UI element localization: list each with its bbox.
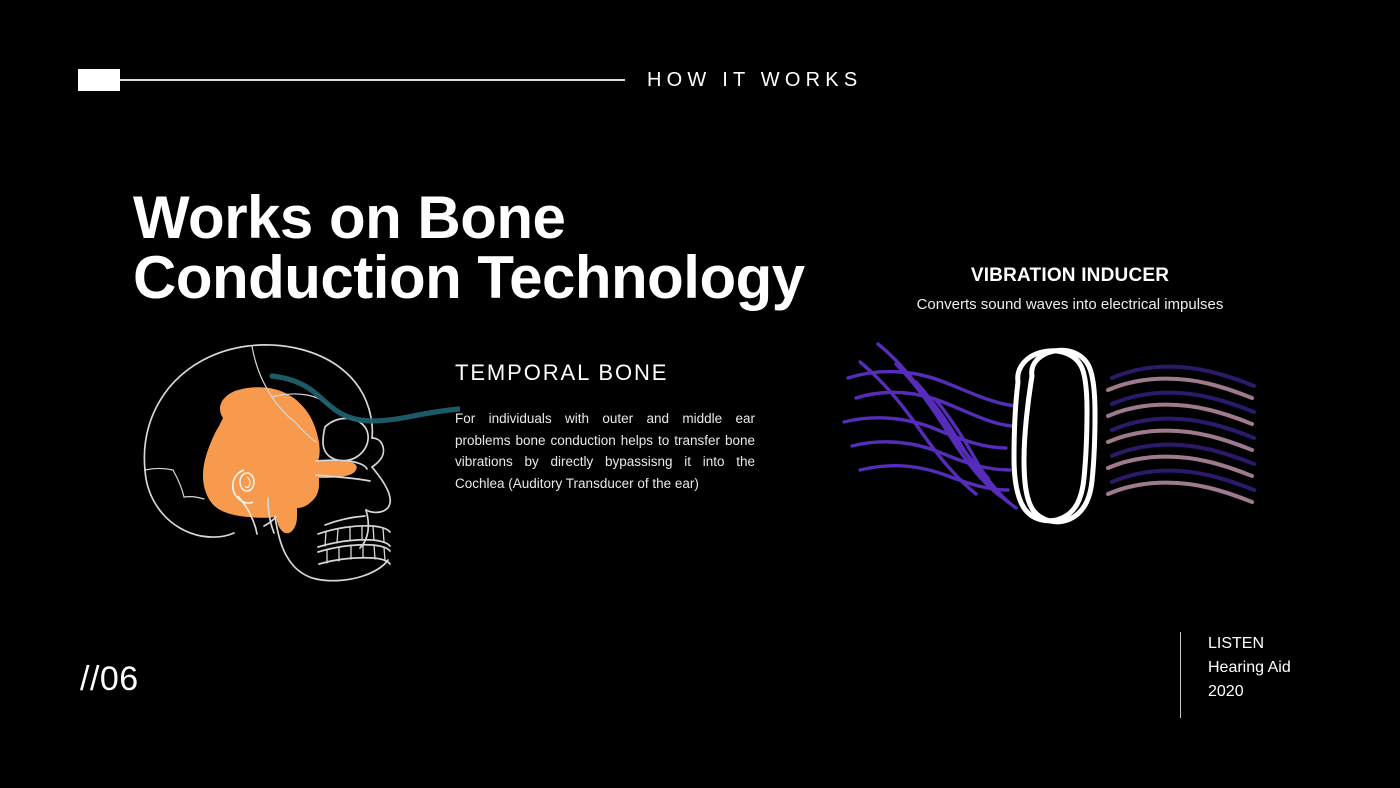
page-title: Works on Bone Conduction Technology (133, 188, 893, 308)
credit-lines: LISTEN Hearing Aid 2020 (1208, 632, 1291, 704)
credit-product: Hearing Aid (1208, 656, 1291, 680)
slide-eyebrow: HOW IT WORKS (78, 60, 878, 100)
vibration-inducer-diagram (840, 330, 1260, 535)
eyebrow-divider-line (120, 79, 625, 81)
temporal-bone-description: For individuals with outer and middle ea… (455, 408, 755, 494)
credit-brand: LISTEN (1208, 632, 1291, 656)
slide-root: HOW IT WORKS Works on Bone Conduction Te… (0, 0, 1400, 788)
credit-block: LISTEN Hearing Aid 2020 (1180, 632, 1291, 718)
vibration-inducer-heading: VIBRATION INDUCER (780, 265, 1360, 287)
credit-year: 2020 (1208, 680, 1291, 704)
vibration-inducer-subheading: Converts sound waves into electrical imp… (780, 296, 1360, 313)
page-number: //06 (80, 660, 139, 699)
page-title-line-2: Conduction Technology (133, 248, 893, 308)
outgoing-sound-waves (1108, 367, 1254, 502)
temporal-bone-section: TEMPORAL BONE For individuals with outer… (455, 360, 755, 494)
credit-divider-line (1180, 632, 1181, 718)
temporal-bone-heading: TEMPORAL BONE (455, 360, 755, 386)
incoming-sound-waves (844, 344, 1016, 508)
inducer-device (1014, 350, 1095, 521)
page-title-line-1: Works on Bone (133, 188, 893, 248)
eyebrow-label: HOW IT WORKS (647, 69, 862, 92)
skull-illustration (120, 320, 460, 600)
eyebrow-marker (78, 69, 120, 91)
